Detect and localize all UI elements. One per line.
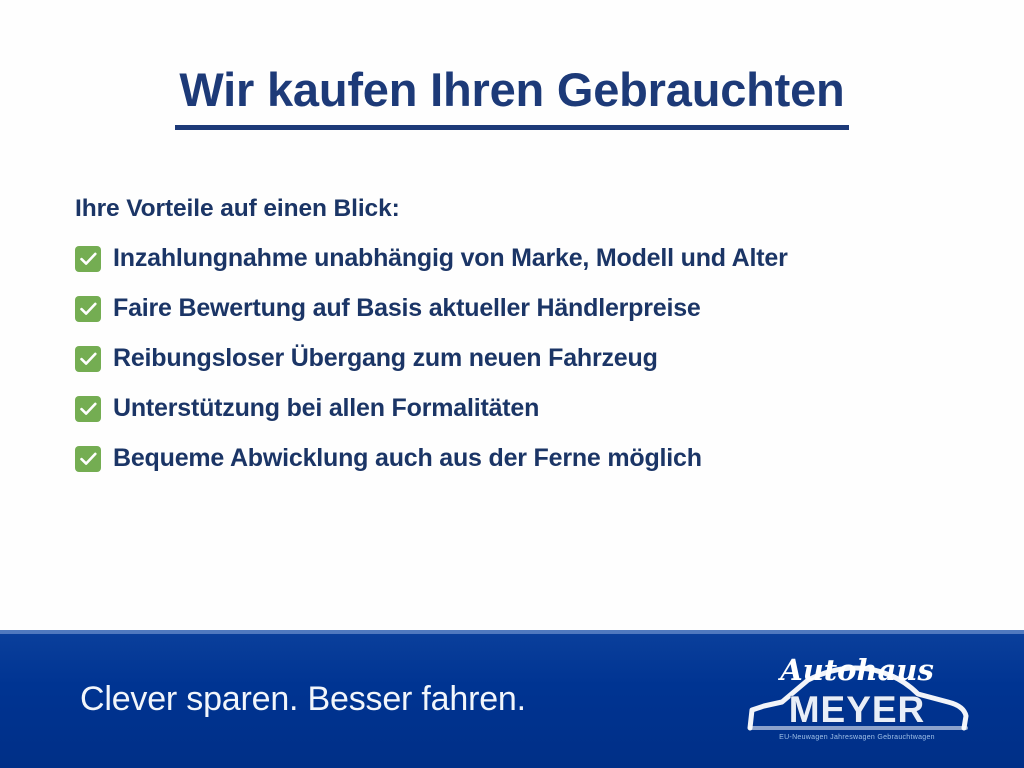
logo-tagline-text: EU-Neuwagen Jahreswagen Gebrauchtwagen (779, 734, 935, 741)
list-item: Inzahlungnahme unabhängig von Marke, Mod… (75, 243, 975, 275)
list-item: Faire Bewertung auf Basis aktueller Händ… (75, 293, 975, 325)
check-icon (75, 346, 101, 372)
list-item: Unterstützung bei allen Formalitäten (75, 393, 975, 425)
list-item-label: Reibungsloser Übergang zum neuen Fahrzeu… (113, 345, 658, 373)
logo-script-text: Autohaus (777, 653, 934, 687)
footer-slogan: Clever sparen. Besser fahren. (80, 680, 526, 719)
check-icon (75, 446, 101, 472)
list-item-label: Bequeme Abwicklung auch aus der Ferne mö… (113, 445, 702, 473)
page-title: Wir kaufen Ihren Gebrauchten (175, 64, 848, 130)
list-item-label: Inzahlungnahme unabhängig von Marke, Mod… (113, 245, 788, 273)
headline-container: Wir kaufen Ihren Gebrauchten (0, 64, 1024, 130)
list-item-label: Unterstützung bei allen Formalitäten (113, 395, 539, 423)
dealer-logo: Autohaus MEYER EU-Neuwagen Jahreswagen G… (742, 644, 972, 748)
list-item-label: Faire Bewertung auf Basis aktueller Händ… (113, 295, 701, 323)
footer-band: Clever sparen. Besser fahren. Autohaus M… (0, 630, 1024, 768)
list-item: Bequeme Abwicklung auch aus der Ferne mö… (75, 443, 975, 475)
list-item: Reibungsloser Übergang zum neuen Fahrzeu… (75, 343, 975, 375)
benefits-section: Ihre Vorteile auf einen Blick: Inzahlung… (75, 196, 975, 493)
logo-name-text: MEYER (789, 689, 926, 730)
check-icon (75, 246, 101, 272)
benefits-list: Inzahlungnahme unabhängig von Marke, Mod… (75, 243, 975, 475)
advertisement-slide: Wir kaufen Ihren Gebrauchten Ihre Vortei… (0, 0, 1024, 768)
check-icon (75, 296, 101, 322)
benefits-heading: Ihre Vorteile auf einen Blick: (75, 196, 975, 223)
check-icon (75, 396, 101, 422)
band-highlight (0, 630, 1024, 634)
